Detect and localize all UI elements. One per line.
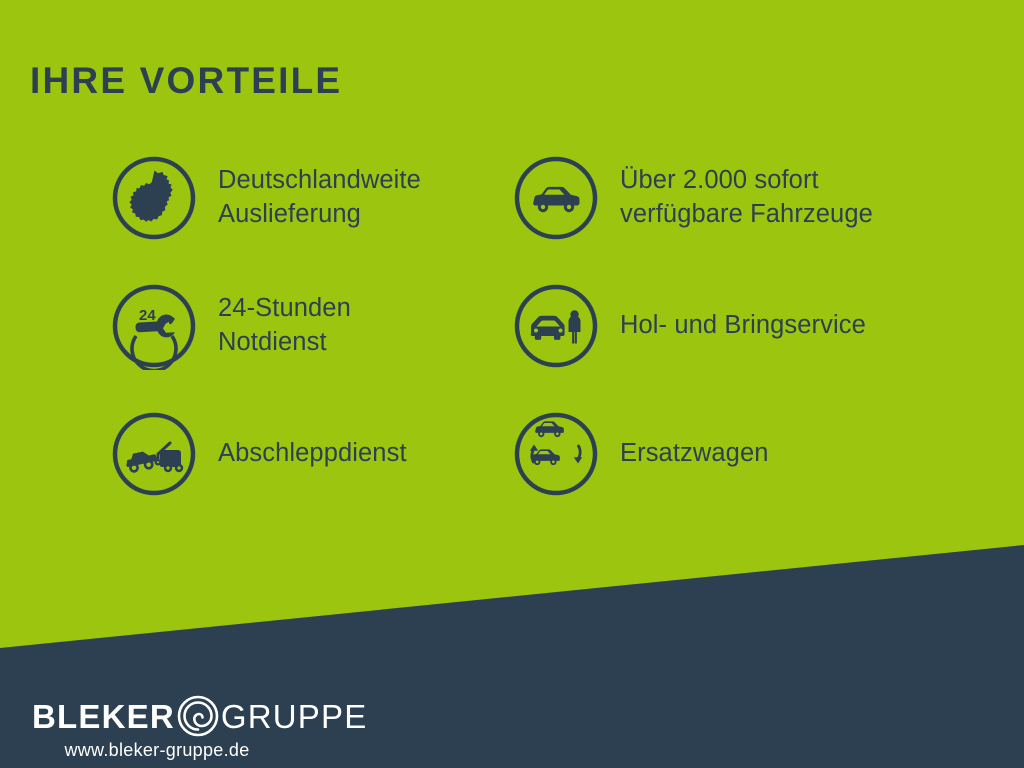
logo-text-bleker: BLEKER — [32, 700, 175, 733]
benefit-label: Über 2.000 sofort verfügbare Fahrzeuge — [620, 164, 873, 231]
benefit-item-ersatzwagen[interactable]: Ersatzwagen — [512, 406, 769, 502]
benefit-item-abschleppdienst[interactable]: Abschleppdienst — [110, 406, 407, 502]
benefit-label: Ersatzwagen — [620, 437, 769, 471]
slide-root: IHRE VORTEILE Deutschlandweite Ausliefer… — [0, 0, 1024, 768]
benefit-item-verfuegbare-fahrzeuge[interactable]: Über 2.000 sofort verfügbare Fahrzeuge — [512, 150, 873, 246]
page-title: IHRE VORTEILE — [30, 62, 342, 99]
spiral-circle-logo-icon — [176, 694, 220, 738]
logo-text-gruppe: GRUPPE — [221, 700, 368, 733]
benefit-item-deutschlandweite-auslieferung[interactable]: Deutschlandweite Auslieferung — [110, 150, 421, 246]
benefit-label: Deutschlandweite Auslieferung — [218, 164, 421, 231]
car-with-person-icon — [512, 282, 600, 370]
benefit-label: 24-Stunden Notdienst — [218, 292, 351, 359]
logo-website-url[interactable]: www.bleker-gruppe.de — [32, 740, 282, 761]
footer-logo[interactable]: BLEKER GRUPPE www.bleker-gruppe.de — [32, 696, 367, 758]
car-icon — [512, 154, 600, 242]
germany-map-icon — [110, 154, 198, 242]
24-hour-wrench-icon: 24 — [110, 282, 198, 370]
logo-wordmark-row: BLEKER GRUPPE — [32, 696, 367, 736]
tow-truck-icon — [110, 410, 198, 498]
replacement-car-icon — [512, 410, 600, 498]
benefit-item-hol-und-bringservice[interactable]: Hol- und Bringservice — [512, 278, 866, 374]
svg-text:24: 24 — [139, 307, 156, 324]
benefit-label: Abschleppdienst — [218, 437, 407, 471]
benefit-item-24-stunden-notdienst[interactable]: 24 24-Stunden Notdienst — [110, 278, 351, 374]
benefit-label: Hol- und Bringservice — [620, 309, 866, 343]
